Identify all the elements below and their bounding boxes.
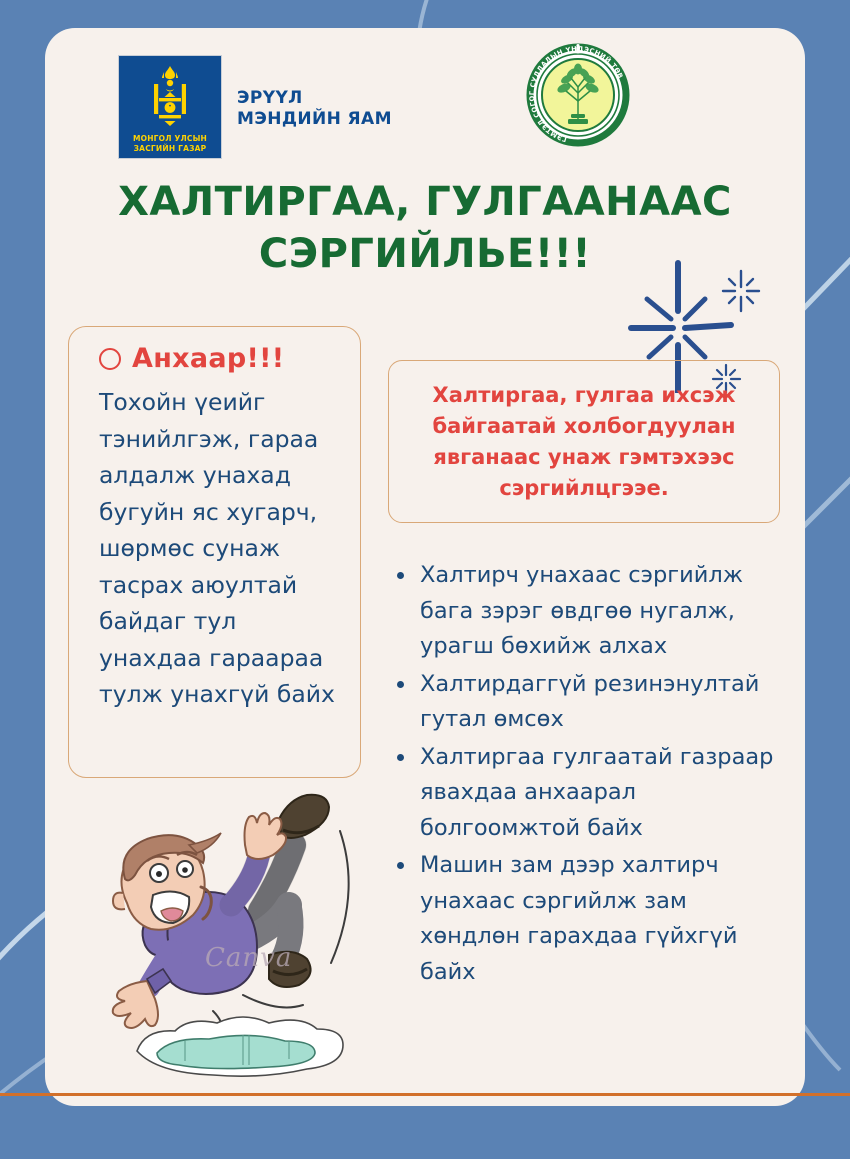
attention-body-text: Тохойн үеийг тэнийлгэж, гараа алдалж уна… (83, 384, 346, 713)
bullet-dot-icon (397, 754, 404, 761)
government-logo: МОНГОЛ УЛСЫН ЗАСГИЙН ГАЗАР (118, 55, 222, 159)
trauma-center-seal: ГЭМТЭЛ СОГОГ СУДЛАЛЫН ҮНДЭСНИЙ ТӨВ (526, 43, 630, 147)
bottom-accent-rule (0, 1093, 850, 1096)
poster-card: МОНГОЛ УЛСЫН ЗАСГИЙН ГАЗАР ЭРҮҮЛ МЭНДИЙН… (45, 28, 805, 1106)
red-warning-box: Халтиргаа, гулгаа ихсэж байгаатай холбог… (388, 360, 780, 523)
list-item-text: Машин зам дээр халтирч унахаас сэргийлж … (420, 852, 737, 985)
attention-box: Анхаар!!! Тохойн үеийг тэнийлгэж, гараа … (68, 326, 361, 778)
prevention-tips-list: Халтирч унахаас сэргийлж бага зэрэг өвдг… (388, 558, 788, 992)
list-item-text: Халтирч унахаас сэргийлж бага зэрэг өвдг… (420, 562, 743, 659)
attention-heading: Анхаар!!! (132, 343, 284, 374)
bullet-dot-icon (397, 572, 404, 579)
poster-root: МОНГОЛ УЛСЫН ЗАСГИЙН ГАЗАР ЭРҮҮЛ МЭНДИЙН… (0, 0, 850, 1159)
person-slipping-on-ice-illustration (93, 783, 393, 1083)
red-warning-text: Халтиргаа, гулгаа ихсэж байгаатай холбог… (401, 380, 767, 504)
government-logo-line2: ЗАСГИЙН ГАЗАР (134, 144, 207, 154)
soyombo-emblem-icon (119, 64, 221, 128)
page-title-line1: ХАЛТИРГАА, ГУЛГААНААС (65, 176, 785, 228)
ministry-name-line1: ЭРҮҮЛ (237, 88, 392, 109)
list-item-text: Халтиргаа гулгаатай газраар явахдаа анха… (420, 744, 773, 841)
attention-heading-row: Анхаар!!! (83, 343, 346, 374)
list-item-text: Халтирдаггүй резинэнултай гутал өмсөх (420, 671, 759, 733)
ministry-name-line2: МЭНДИЙН ЯАМ (237, 109, 392, 130)
bullet-dot-icon (397, 862, 404, 869)
tree-seal-icon: ГЭМТЭЛ СОГОГ СУДЛАЛЫН ҮНДЭСНИЙ ТӨВ (526, 43, 630, 147)
list-item: Халтирч унахаас сэргийлж бага зэрэг өвдг… (388, 558, 788, 665)
list-item: Халтирдаггүй резинэнултай гутал өмсөх (388, 667, 788, 738)
bullet-dot-icon (397, 681, 404, 688)
canva-watermark: Canva (205, 943, 292, 973)
alert-circle-icon (99, 348, 121, 370)
ministry-name: ЭРҮҮЛ МЭНДИЙН ЯАМ (237, 88, 392, 130)
list-item: Халтиргаа гулгаатай газраар явахдаа анха… (388, 740, 788, 847)
poster-header: МОНГОЛ УЛСЫН ЗАСГИЙН ГАЗАР ЭРҮҮЛ МЭНДИЙН… (45, 28, 805, 178)
government-logo-line1: МОНГОЛ УЛСЫН (133, 134, 207, 144)
list-item: Машин зам дээр халтирч унахаас сэргийлж … (388, 848, 788, 990)
